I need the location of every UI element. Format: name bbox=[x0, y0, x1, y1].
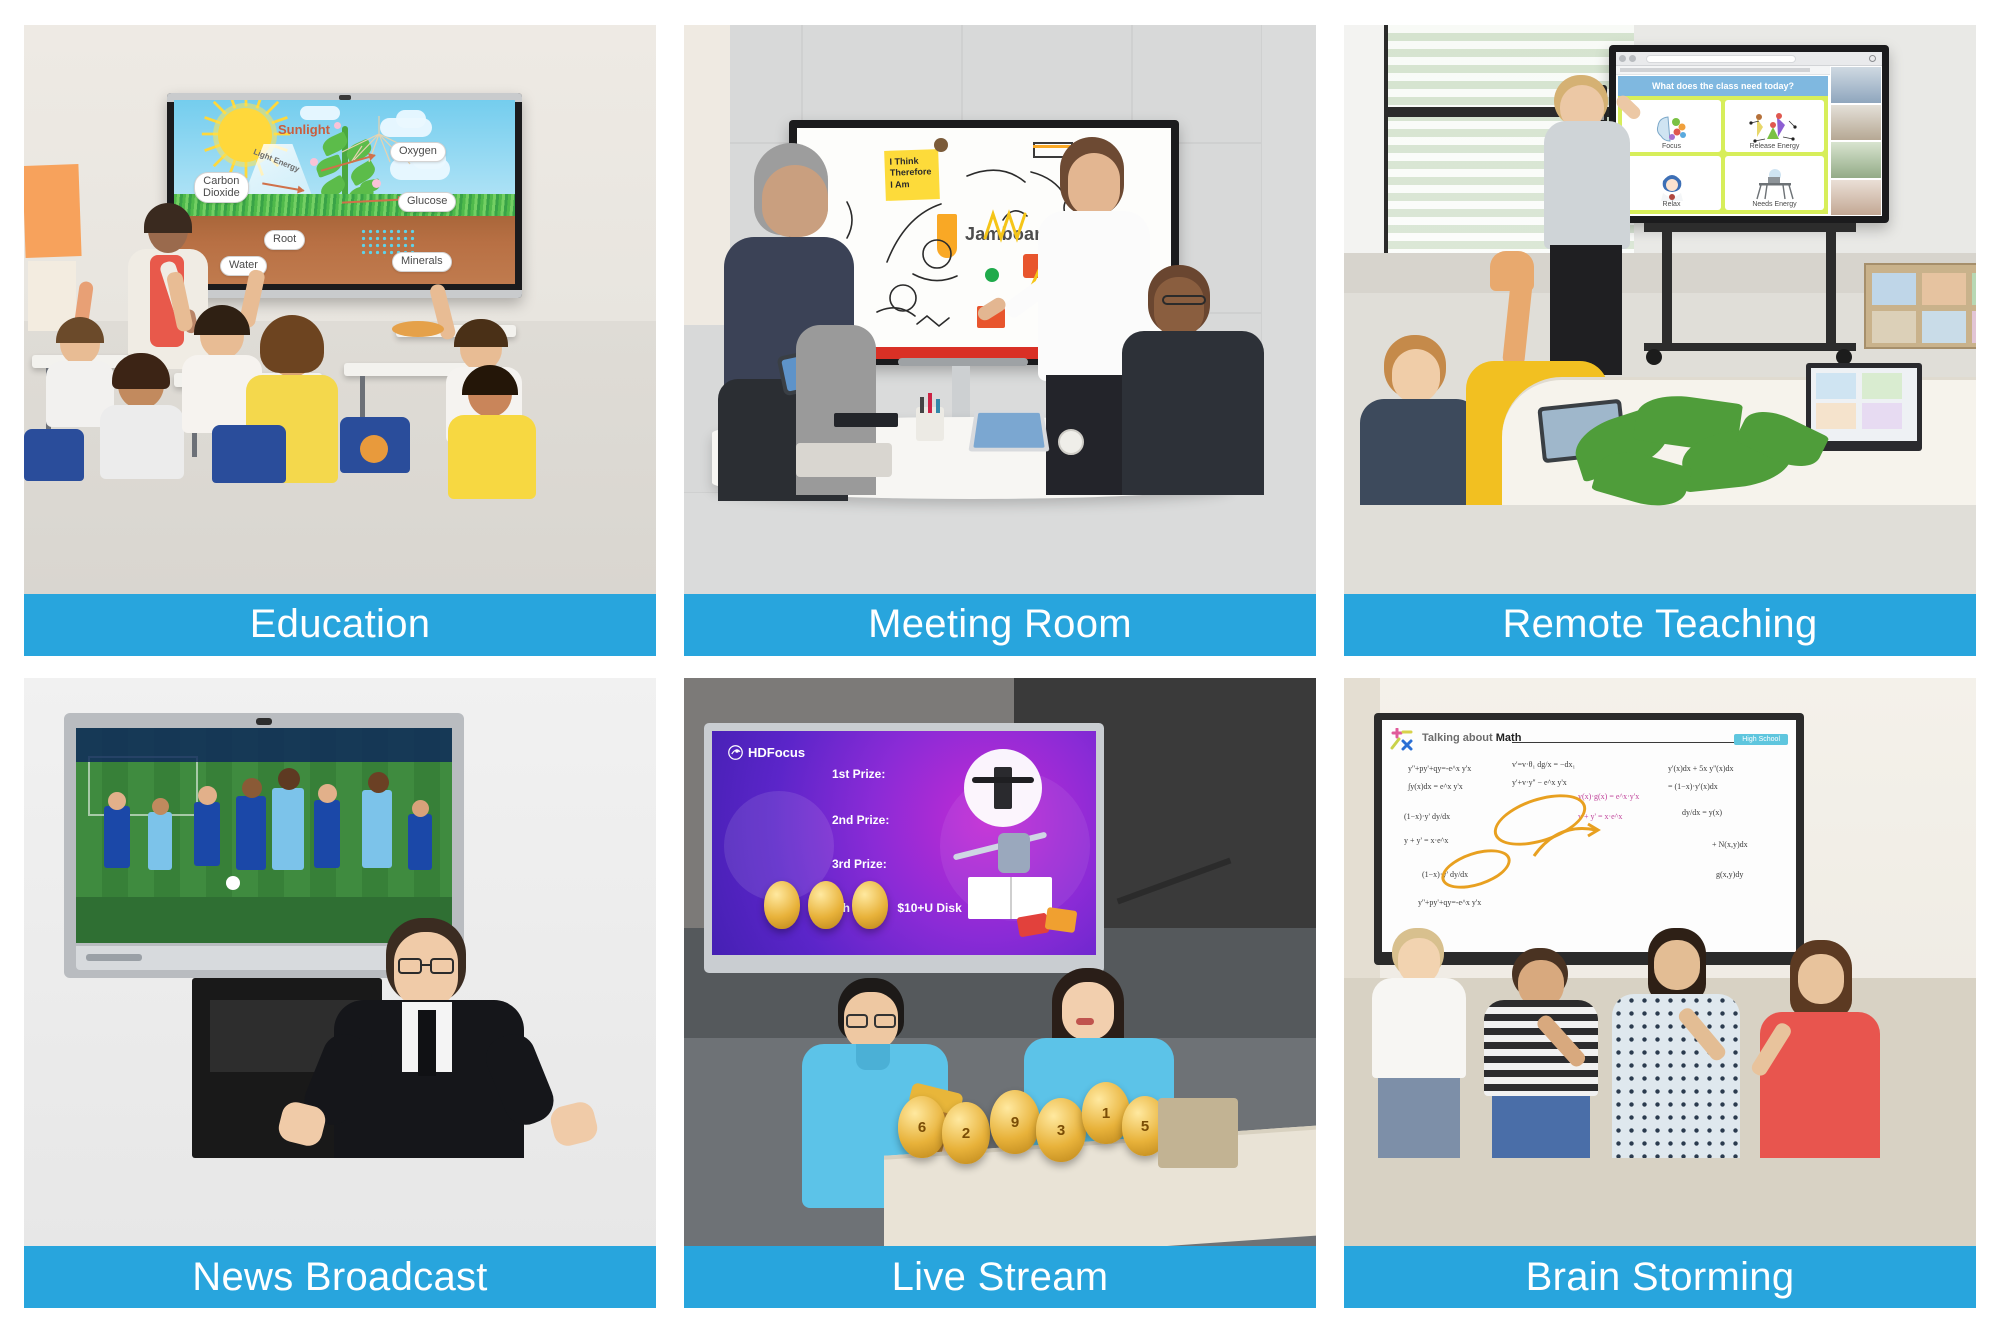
label-carbon-dioxide: Carbon Dioxide bbox=[194, 172, 249, 203]
photo-live-stream: HDFocus 1st Prize: 2nd Prize: 3rd Prize:… bbox=[684, 678, 1316, 1247]
whiteboard-title: Talking about Math bbox=[1422, 732, 1521, 744]
video-participants-strip bbox=[1830, 66, 1882, 216]
papers bbox=[796, 443, 892, 477]
equation: dy/dx = y(x) bbox=[1682, 808, 1722, 817]
connector-arrow-icon bbox=[1532, 816, 1602, 860]
option-label-release-energy: Release Energy bbox=[1750, 143, 1800, 152]
caption-brain-storming: Brain Storming bbox=[1344, 1246, 1976, 1308]
golden-egg[interactable]: 6 bbox=[898, 1096, 946, 1158]
equation: v'=v·θ₁ dg/x = −dx₁ bbox=[1512, 760, 1575, 769]
player bbox=[272, 788, 304, 870]
football-broadcast-screen bbox=[76, 728, 452, 943]
golden-egg bbox=[852, 881, 888, 929]
cardboard-box bbox=[1158, 1098, 1238, 1168]
video-tile[interactable] bbox=[1830, 141, 1882, 179]
player bbox=[104, 806, 130, 868]
math-symbols-icon bbox=[1390, 728, 1414, 752]
panel-cart-bar bbox=[1644, 223, 1856, 232]
caption-remote-teaching: Remote Teaching bbox=[1344, 594, 1976, 656]
label-root: Root bbox=[264, 230, 305, 250]
classroom-chair bbox=[212, 425, 286, 483]
golden-egg[interactable]: 3 bbox=[1036, 1098, 1086, 1162]
caption-meeting-room: Meeting Room bbox=[684, 594, 1316, 656]
equation: ∫y(x)dx = e^x y'x bbox=[1408, 782, 1463, 791]
option-grid: Focus Release Energy bbox=[1618, 96, 1828, 214]
panel-meeting-room[interactable]: I Think Therefore I Am Jamboard bbox=[684, 25, 1316, 656]
equation: y(x)·g(x) = e^x·y'x bbox=[1578, 792, 1639, 801]
player bbox=[362, 790, 392, 868]
prize-label-2: 2nd Prize: bbox=[832, 813, 889, 827]
equation: = (1−x)·y'(x)dx bbox=[1668, 782, 1718, 791]
brain-icon bbox=[1652, 113, 1692, 143]
storage-shelf bbox=[1864, 263, 1976, 349]
scenario-grid: Sunlight Light Energy bbox=[0, 0, 2000, 1333]
photo-news-broadcast bbox=[24, 678, 656, 1247]
eyeglasses-icon bbox=[398, 958, 422, 974]
equation: (1−x)·y' dy/dx bbox=[1404, 812, 1450, 821]
equation: y'+v·y'' − e^x y'x bbox=[1512, 778, 1567, 787]
hdfocus-wordmark: HDFocus bbox=[748, 745, 805, 760]
class-poll-slide: What does the class need today? Focus bbox=[1616, 52, 1882, 216]
eyeglasses-icon bbox=[846, 1014, 868, 1028]
news-anchor-figure bbox=[290, 918, 590, 1158]
photo-meeting-room: I Think Therefore I Am Jamboard bbox=[684, 25, 1316, 594]
wall-poster-orange bbox=[24, 164, 82, 258]
student-figure bbox=[98, 343, 188, 478]
option-card-needs-energy[interactable]: Needs Energy bbox=[1725, 156, 1824, 210]
student-figure bbox=[1364, 928, 1474, 1158]
player bbox=[408, 814, 432, 870]
prize-label-1: 1st Prize: bbox=[832, 767, 885, 781]
option-card-release-energy[interactable]: Release Energy bbox=[1725, 100, 1824, 152]
math-whiteboard-canvas: Talking about Math High School y''+py'+q… bbox=[1382, 720, 1796, 952]
drinking-glass bbox=[1058, 429, 1084, 455]
equation: y'(x)dx + 5x y''(x)dx bbox=[1668, 764, 1734, 773]
equation: y + y' = x·e^x bbox=[1404, 836, 1448, 845]
golden-egg[interactable]: 2 bbox=[942, 1102, 990, 1164]
prize-value-4: $10+U Disk bbox=[897, 901, 961, 915]
option-label-needs-energy: Needs Energy bbox=[1752, 201, 1796, 210]
student-figure bbox=[1752, 940, 1882, 1158]
prize-image-1 bbox=[964, 749, 1042, 827]
panel-control-buttons[interactable] bbox=[86, 954, 142, 961]
equation: y''+py'+qy=-e^x y'x bbox=[1408, 764, 1471, 773]
equation: y''+py'+qy=-e^x y'x bbox=[1418, 898, 1481, 907]
notebook bbox=[834, 413, 898, 427]
panel-brain-storming[interactable]: Talking about Math High School y''+py'+q… bbox=[1344, 678, 1976, 1309]
label-minerals: Minerals bbox=[392, 252, 452, 272]
player bbox=[314, 800, 340, 868]
slide-title: What does the class need today? bbox=[1618, 76, 1828, 96]
option-label-focus: Focus bbox=[1662, 143, 1681, 152]
option-label-relax: Relax bbox=[1663, 201, 1681, 210]
label-oxygen: Oxygen bbox=[390, 142, 446, 162]
panel-news-broadcast[interactable]: News Broadcast bbox=[24, 678, 656, 1309]
caption-live-stream: Live Stream bbox=[684, 1246, 1316, 1308]
student-figure bbox=[1606, 928, 1746, 1158]
caption-education: Education bbox=[24, 594, 656, 656]
dancing-figures-icon bbox=[1747, 113, 1803, 143]
player bbox=[194, 802, 220, 866]
equation: g(x,y)dy bbox=[1716, 870, 1743, 879]
golden-egg[interactable]: 9 bbox=[990, 1090, 1040, 1154]
photo-brain-storming: Talking about Math High School y''+py'+q… bbox=[1344, 678, 1976, 1247]
grade-badge: High School bbox=[1734, 734, 1788, 745]
seated-man-figure bbox=[1118, 265, 1264, 495]
prize-label-3: 3rd Prize: bbox=[832, 857, 887, 871]
equation: + N(x,y)dx bbox=[1712, 840, 1748, 849]
student-figure bbox=[442, 365, 540, 495]
player bbox=[236, 796, 266, 870]
video-tile[interactable] bbox=[1830, 66, 1882, 104]
browser-toolbar bbox=[1616, 52, 1882, 66]
lunch-tray bbox=[392, 321, 444, 337]
hand bbox=[548, 1099, 600, 1148]
live-stream-prize-slide: HDFocus 1st Prize: 2nd Prize: 3rd Prize:… bbox=[712, 731, 1096, 955]
video-tile[interactable] bbox=[1830, 179, 1882, 217]
golden-egg bbox=[808, 881, 844, 929]
player bbox=[148, 812, 172, 870]
student-figure bbox=[1478, 948, 1604, 1158]
label-sunlight: Sunlight bbox=[278, 122, 330, 137]
label-glucose: Glucose bbox=[398, 192, 456, 212]
hdfocus-icon bbox=[728, 745, 743, 760]
golden-egg bbox=[764, 881, 800, 929]
classroom-chair bbox=[24, 429, 84, 481]
prize-image-2 bbox=[952, 827, 1048, 879]
caption-news-broadcast: News Broadcast bbox=[24, 1246, 656, 1308]
video-tile[interactable] bbox=[1830, 104, 1882, 142]
desk-icon bbox=[1753, 169, 1797, 201]
hdfocus-logo: HDFocus bbox=[728, 745, 805, 760]
panel-remote-teaching[interactable]: What does the class need today? Focus bbox=[1344, 25, 1976, 656]
prize-image-4 bbox=[1012, 903, 1092, 949]
panel-education[interactable]: Sunlight Light Energy bbox=[24, 25, 656, 656]
football bbox=[226, 876, 240, 890]
meditating-person-icon bbox=[1655, 169, 1689, 201]
photo-education: Sunlight Light Energy bbox=[24, 25, 656, 594]
highlight-ellipse bbox=[1437, 841, 1516, 896]
photo-remote-teaching: What does the class need today? Focus bbox=[1344, 25, 1976, 594]
panel-live-stream[interactable]: HDFocus 1st Prize: 2nd Prize: 3rd Prize:… bbox=[684, 678, 1316, 1309]
